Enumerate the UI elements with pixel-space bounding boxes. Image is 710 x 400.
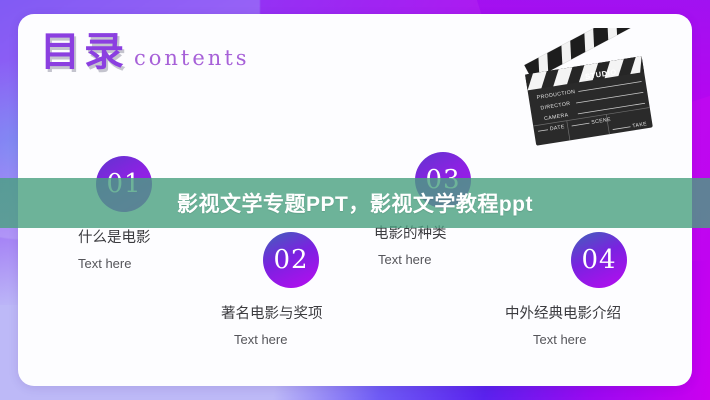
list-item[interactable]: 02 著名电影与奖项 Text here: [263, 232, 323, 347]
slide-canvas: 目录 contents: [0, 0, 710, 400]
item-subtitle: Text here: [533, 332, 627, 347]
page-title-cn: 目录: [40, 32, 128, 72]
item-title: 中外经典电影介绍: [505, 302, 627, 323]
item-title: 什么是电影: [78, 226, 152, 247]
clapperboard-icon: STUDIO PRODUCTION DIRECTOR CAMERA DATE S…: [514, 28, 674, 148]
item-title: 著名电影与奖项: [221, 302, 323, 323]
overlay-banner: 影视文学专题PPT，影视文学教程ppt: [0, 178, 710, 228]
item-subtitle: Text here: [78, 256, 152, 271]
item-number-badge: 02: [263, 232, 319, 288]
item-subtitle: Text here: [234, 332, 323, 347]
item-number-badge: 04: [571, 232, 627, 288]
overlay-banner-text: 影视文学专题PPT，影视文学教程ppt: [177, 188, 533, 218]
page-title-en: contents: [134, 46, 250, 72]
item-subtitle: Text here: [378, 252, 471, 267]
list-item[interactable]: 04 中外经典电影介绍 Text here: [571, 232, 627, 347]
page-title: 目录 contents: [40, 32, 250, 72]
